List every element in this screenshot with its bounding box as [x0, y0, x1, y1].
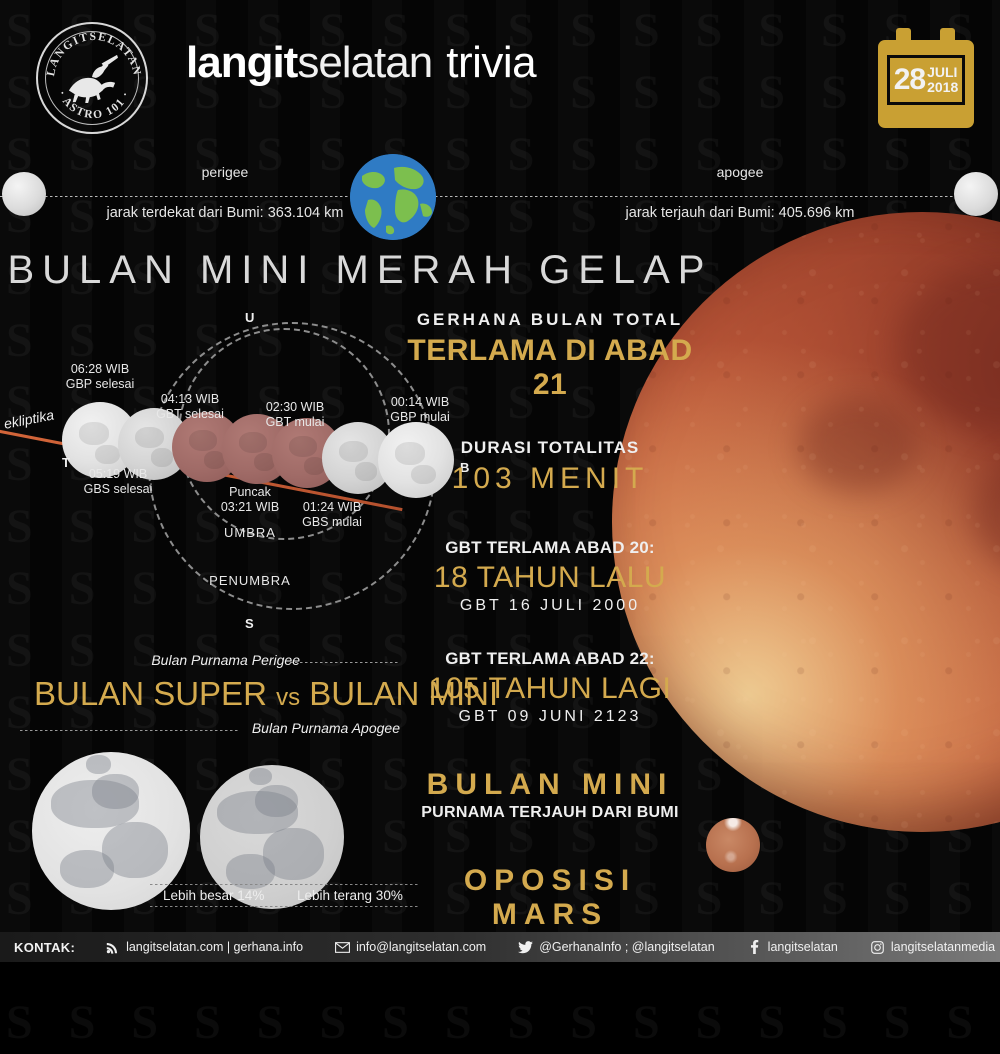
- mars-headline: OPOSISI MARS: [400, 864, 700, 932]
- phase-label-1-event: GBS selesai: [48, 482, 188, 497]
- footer-item-twitter[interactable]: @GerhanaInfo ; @langitselatan: [502, 940, 730, 955]
- supermoon-vs-minimoon-section: Bulan Purnama Perigee BULAN SUPER vs BUL…: [0, 652, 420, 742]
- minimoon-subtitle: PURNAMA TERJAUH DARI BUMI: [400, 804, 700, 822]
- perigee-distance: jarak terdekat dari Bumi: 363.104 km: [60, 205, 390, 221]
- header: LANGITSELATAN · ASTRO 101 · langitselata…: [0, 0, 1000, 150]
- footer-label: KONTAK:: [0, 940, 89, 955]
- watermark-row: SSSSSSSSSSSSSSSSSSSS: [0, 992, 1000, 1054]
- century20-value: 18 TAHUN LALU: [400, 561, 700, 595]
- footer-item-instagram[interactable]: langitselatanmedia: [854, 940, 1000, 955]
- phase-label-3-event: GBT mulai: [225, 415, 365, 430]
- caption-bigger: Lebih besar 14%: [163, 888, 264, 903]
- footer-item-facebook[interactable]: langitselatan: [731, 940, 854, 955]
- earth-globe-icon: [350, 154, 436, 240]
- eclipse-headline: TERLAMA DI ABAD 21: [400, 334, 700, 402]
- peak-label: Puncak: [185, 485, 315, 500]
- axis-label-u: U: [245, 310, 254, 325]
- twitter-icon: [518, 940, 533, 955]
- ecliptika-label: ekliptika: [2, 406, 55, 431]
- brand-selatan: selatan: [297, 38, 432, 87]
- orbit-dotted-line: [0, 195, 1000, 197]
- caption-divider-bottom: [150, 906, 420, 907]
- supermoon-disc: [32, 752, 190, 910]
- centaur-archer-icon: [63, 52, 121, 104]
- footer-facebook-text: langitselatan: [768, 940, 838, 954]
- eclipse-kicker: GERHANA BULAN TOTAL: [400, 310, 700, 330]
- phase-label-0-time: 06:28 WIB: [30, 362, 170, 377]
- apogee-label: apogee: [640, 164, 840, 180]
- compare-top-dash: [290, 662, 400, 663]
- compare-bottom-dash: [20, 730, 240, 731]
- duration-value: 103 MENIT: [400, 462, 700, 496]
- footer-instagram-text: langitselatanmedia: [891, 940, 995, 954]
- calendar-icon: 28 JULI 2018: [878, 28, 974, 128]
- peak-time: 03:21 WIB: [185, 500, 315, 515]
- century22-kicker: GBT TERLAMA ABAD 22:: [400, 649, 700, 669]
- langitselatan-logo[interactable]: LANGITSELATAN · ASTRO 101 ·: [36, 22, 148, 134]
- century20-date: GBT 16 JULI 2000: [400, 597, 700, 615]
- phase-label-0-event: GBP selesai: [30, 377, 170, 392]
- compare-top-row: Bulan Purnama Perigee: [0, 652, 420, 674]
- compare-title-b: BULAN MINI: [309, 675, 498, 712]
- facebook-icon: [747, 940, 762, 955]
- footer-website-text: langitselatan.com | gerhana.info: [126, 940, 303, 954]
- axis-label-s: S: [245, 616, 254, 631]
- brand-trivia: trivia: [446, 38, 536, 87]
- compare-bottom-row: Bulan Purnama Apogee: [0, 718, 420, 742]
- compare-title: BULAN SUPER vs BULAN MINI: [0, 674, 420, 718]
- umbra-label: UMBRA: [190, 525, 310, 540]
- page-title: BULAN MINI MERAH GELAP: [0, 248, 720, 293]
- penumbra-label: PENUMBRA: [180, 573, 320, 588]
- brand-langit: langit: [186, 38, 297, 87]
- compare-top-note: Bulan Purnama Perigee: [151, 652, 300, 668]
- mars-planet-image: [706, 818, 760, 872]
- compare-title-vs: vs: [276, 684, 300, 711]
- footer-email-text: info@langitselatan.com: [356, 940, 486, 954]
- compare-bottom-note: Bulan Purnama Apogee: [252, 720, 400, 736]
- instagram-icon: [870, 940, 885, 955]
- facts-column: GERHANA BULAN TOTAL TERLAMA DI ABAD 21 D…: [400, 310, 700, 952]
- minimoon-headline: BULAN MINI: [400, 768, 700, 802]
- caption-divider-top: [150, 884, 420, 885]
- moon-icon-apogee: [954, 172, 998, 216]
- footer-bottom-bar: [0, 962, 1000, 1000]
- orbit-diagram: perigee jarak terdekat dari Bumi: 363.10…: [0, 150, 1000, 250]
- footer-twitter-text: @GerhanaInfo ; @langitselatan: [539, 940, 714, 954]
- calendar-year: 2018: [927, 80, 958, 95]
- duration-kicker: DURASI TOTALITAS: [400, 438, 700, 458]
- caption-brighter: Lebih terang 30%: [297, 888, 403, 903]
- calendar-screen: 28 JULI 2018: [887, 55, 965, 105]
- email-icon: [335, 940, 350, 955]
- calendar-day: 28: [894, 65, 925, 95]
- moon-icon-perigee: [2, 172, 46, 216]
- phase-label-3-time: 02:30 WIB: [225, 400, 365, 415]
- century20-kicker: GBT TERLAMA ABAD 20:: [400, 538, 700, 558]
- apogee-distance: jarak terjauh dari Bumi: 405.696 km: [570, 205, 910, 221]
- rss-icon: [105, 940, 120, 955]
- footer-item-website[interactable]: langitselatan.com | gerhana.info: [89, 940, 319, 955]
- compare-title-a: BULAN SUPER: [34, 675, 267, 712]
- perigee-label: perigee: [125, 164, 325, 180]
- calendar-month: JULI: [927, 65, 958, 80]
- contact-footer: KONTAK: langitselatan.com | gerhana.info…: [0, 932, 1000, 962]
- phase-label-1-time: 05:19 WIB: [48, 467, 188, 482]
- brand-title: langitselatantrivia: [186, 36, 536, 90]
- footer-item-email[interactable]: info@langitselatan.com: [319, 940, 502, 955]
